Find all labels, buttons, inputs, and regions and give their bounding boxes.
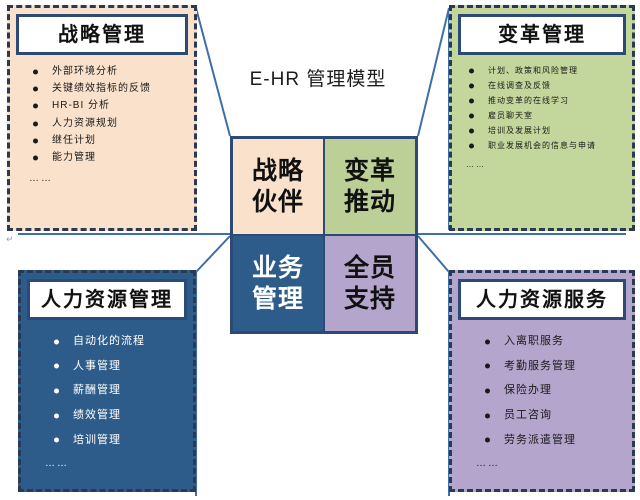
connector-hr-management — [196, 236, 230, 272]
list-item: 员工咨询 — [482, 404, 622, 428]
panel-strategy-inner: 战略管理 外部环境分析 关键绩效指标的反馈 HR-BI 分析 人力资源规划 继任… — [16, 14, 188, 224]
list-item-label: 外部环境分析 — [52, 66, 118, 77]
list-item-label: 职业发展机会的信息与申请 — [488, 141, 596, 150]
panel-strategy-more: …… — [16, 173, 188, 184]
list-item-label: 在线调查及反馈 — [488, 81, 551, 90]
list-item-label: 自动化的流程 — [73, 335, 145, 347]
panel-change-inner: 变革管理 计划、政策和风险管理 在线调查及反馈 推动变革的在线学习 雇员聊天室 … — [458, 14, 626, 224]
list-item: 自动化的流程 — [51, 330, 183, 354]
panel-hr-service-more: …… — [458, 458, 626, 469]
pilcrow-mark-left: ↵ — [6, 234, 14, 245]
list-item-label: 薪酬管理 — [73, 384, 121, 396]
panel-hr-management-more: …… — [27, 458, 187, 469]
list-item-label: 关键绩效指标的反馈 — [52, 83, 151, 94]
panel-hr-management[interactable]: 人力资源管理 自动化的流程 人事管理 薪酬管理 绩效管理 培训管理 …… — [18, 270, 196, 492]
list-item-label: 继任计划 — [52, 135, 96, 146]
center-cell-line1: 变革 — [344, 156, 396, 187]
list-item-label: 绩效管理 — [73, 409, 121, 421]
panel-change-title: 变革管理 — [458, 14, 626, 55]
list-item: 保险办理 — [482, 379, 622, 403]
bullet-icon — [469, 69, 474, 74]
bullet-icon — [33, 121, 38, 126]
bullet-icon — [469, 84, 474, 89]
list-item: 绩效管理 — [51, 404, 183, 428]
bullet-icon — [485, 364, 490, 369]
list-item: 在线调查及反馈 — [466, 79, 622, 93]
bullet-icon — [33, 104, 38, 109]
list-item: 外部环境分析 — [30, 64, 184, 80]
bullet-icon — [485, 339, 490, 344]
diagram-canvas: 战略管理 外部环境分析 关键绩效指标的反馈 HR-BI 分析 人力资源规划 继任… — [0, 0, 640, 500]
panel-change-more: …… — [458, 160, 626, 169]
list-item-label: 推动变革的在线学习 — [488, 96, 569, 105]
list-item-label: 劳务派遣管理 — [504, 434, 576, 446]
panel-hr-service-inner: 人力资源服务 入离职服务 考勤服务管理 保险办理 员工咨询 劳务派遣管理 …… — [458, 279, 626, 485]
bullet-icon — [54, 438, 59, 443]
bullet-icon — [469, 99, 474, 104]
bullet-icon — [54, 413, 59, 418]
center-model-grid: 战略 伙伴 变革 推动 业务 管理 全员 支持 — [230, 136, 418, 334]
center-cell-line1: 业务 — [252, 253, 304, 284]
bullet-icon — [33, 138, 38, 143]
list-item-label: 能力管理 — [52, 152, 96, 163]
bullet-icon — [54, 364, 59, 369]
list-item: 薪酬管理 — [51, 379, 183, 403]
bullet-icon — [54, 389, 59, 394]
connector-change — [418, 8, 449, 136]
list-item: 考勤服务管理 — [482, 355, 622, 379]
panel-hr-management-inner: 人力资源管理 自动化的流程 人事管理 薪酬管理 绩效管理 培训管理 …… — [27, 279, 187, 485]
panel-change-management[interactable]: 变革管理 计划、政策和风险管理 在线调查及反馈 推动变革的在线学习 雇员聊天室 … — [449, 5, 635, 231]
center-cell-strategic-partner[interactable]: 战略 伙伴 — [232, 138, 324, 235]
list-item-label: 入离职服务 — [504, 335, 564, 347]
list-item: 人事管理 — [51, 355, 183, 379]
center-cell-line1: 全员 — [344, 253, 396, 284]
center-cell-all-staff-support[interactable]: 全员 支持 — [324, 235, 416, 332]
list-item-label: 培训管理 — [73, 434, 121, 446]
bullet-icon — [469, 144, 474, 149]
list-item: 劳务派遣管理 — [482, 429, 622, 453]
list-item: 继任计划 — [30, 133, 184, 149]
center-cell-line2: 推动 — [344, 187, 396, 218]
panel-change-list: 计划、政策和风险管理 在线调查及反馈 推动变革的在线学习 雇员聊天室 培训及发展… — [458, 64, 626, 154]
list-item: 计划、政策和风险管理 — [466, 64, 622, 78]
list-item-label: 人事管理 — [73, 360, 121, 372]
list-item: 人力资源规划 — [30, 116, 184, 132]
list-item: 职业发展机会的信息与申请 — [466, 139, 622, 153]
list-item-label: 计划、政策和风险管理 — [488, 66, 578, 75]
list-item: 关键绩效指标的反馈 — [30, 81, 184, 97]
list-item-label: 保险办理 — [504, 384, 552, 396]
list-item: 能力管理 — [30, 150, 184, 166]
center-cell-business-management[interactable]: 业务 管理 — [232, 235, 324, 332]
bullet-icon — [33, 70, 38, 75]
panel-strategy-management[interactable]: 战略管理 外部环境分析 关键绩效指标的反馈 HR-BI 分析 人力资源规划 继任… — [7, 5, 197, 231]
bullet-icon — [469, 114, 474, 119]
center-cell-line1: 战略 — [252, 156, 304, 187]
center-cell-line2: 伙伴 — [252, 187, 304, 218]
panel-hr-service[interactable]: 人力资源服务 入离职服务 考勤服务管理 保险办理 员工咨询 劳务派遣管理 …… — [449, 270, 635, 492]
bullet-icon — [33, 87, 38, 92]
list-item-label: HR-BI 分析 — [52, 100, 110, 111]
list-item: 推动变革的在线学习 — [466, 94, 622, 108]
list-item-label: 员工咨询 — [504, 409, 552, 421]
center-cell-line2: 支持 — [344, 284, 396, 315]
panel-strategy-list: 外部环境分析 关键绩效指标的反馈 HR-BI 分析 人力资源规划 继任计划 能力… — [16, 64, 188, 167]
list-item-label: 人力资源规划 — [52, 118, 118, 129]
bullet-icon — [469, 129, 474, 134]
panel-hr-service-title: 人力资源服务 — [458, 279, 626, 320]
list-item: 培训管理 — [51, 429, 183, 453]
list-item-label: 考勤服务管理 — [504, 360, 576, 372]
connector-hr-service — [418, 236, 449, 272]
page-title: E-HR 管理模型 — [218, 64, 418, 91]
list-item: 培训及发展计划 — [466, 124, 622, 138]
center-cell-change-driver[interactable]: 变革 推动 — [324, 138, 416, 235]
list-item: 入离职服务 — [482, 330, 622, 354]
list-item: 雇员聊天室 — [466, 109, 622, 123]
bullet-icon — [54, 339, 59, 344]
list-item-label: 培训及发展计划 — [488, 126, 551, 135]
list-item: HR-BI 分析 — [30, 98, 184, 114]
bullet-icon — [33, 156, 38, 161]
panel-hr-management-list: 自动化的流程 人事管理 薪酬管理 绩效管理 培训管理 — [27, 330, 187, 453]
bullet-icon — [485, 389, 490, 394]
panel-hr-management-title: 人力资源管理 — [27, 279, 187, 320]
panel-strategy-title: 战略管理 — [16, 14, 188, 55]
bullet-icon — [485, 438, 490, 443]
panel-hr-service-list: 入离职服务 考勤服务管理 保险办理 员工咨询 劳务派遣管理 — [458, 330, 626, 453]
center-cell-line2: 管理 — [252, 284, 304, 315]
list-item-label: 雇员聊天室 — [488, 111, 533, 120]
bullet-icon — [485, 413, 490, 418]
